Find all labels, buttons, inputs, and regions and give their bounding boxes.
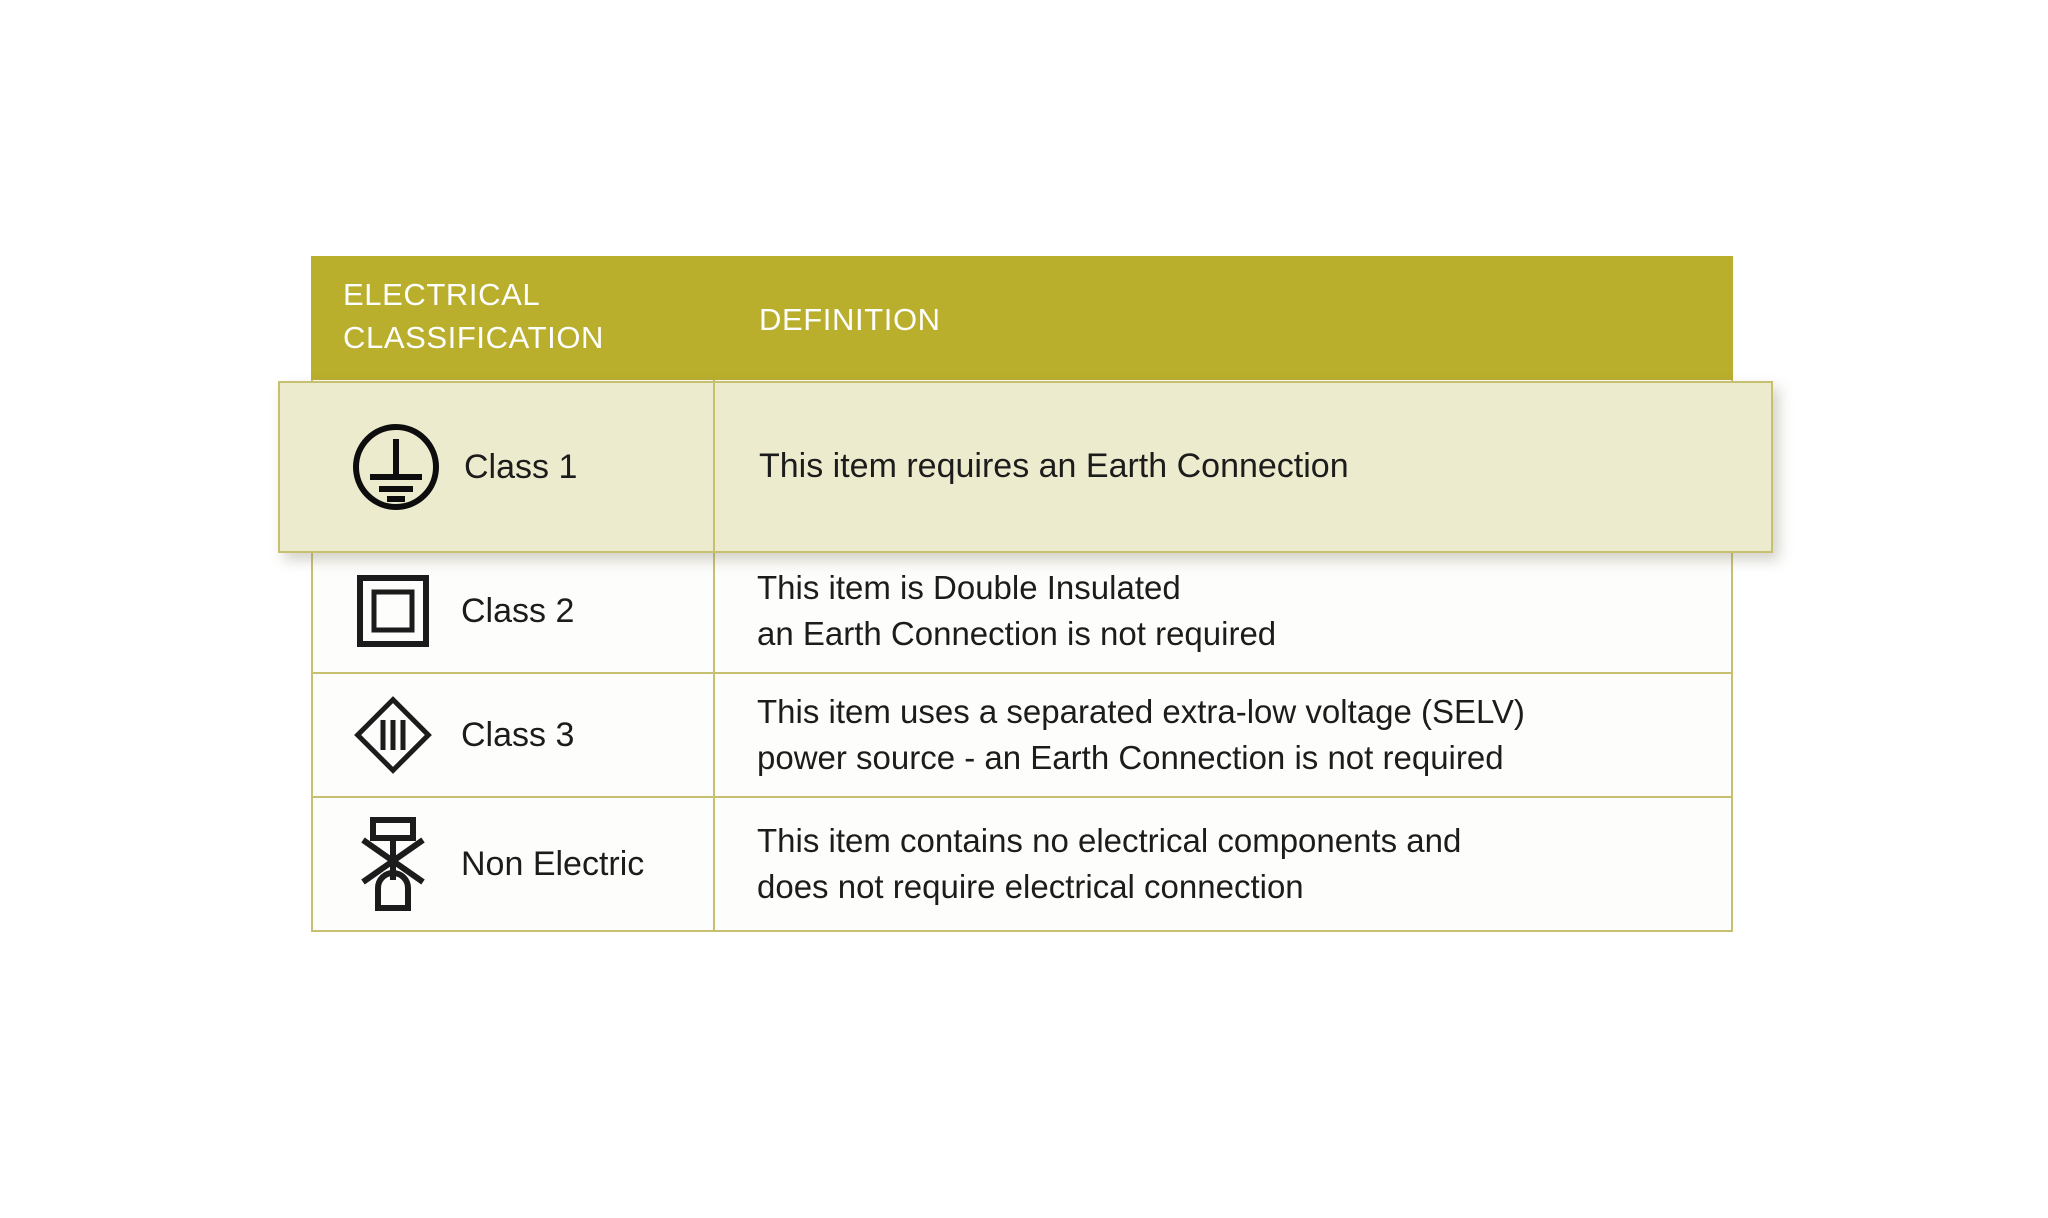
class-cell-non-electric: Non Electric (313, 798, 715, 930)
class-label: Non Electric (461, 845, 644, 884)
column-header-line-2: CLASSIFICATION (343, 317, 715, 360)
definition-line-2: does not require electrical connection (757, 864, 1461, 910)
table-header-row: ELECTRICAL CLASSIFICATION DEFINITION (311, 256, 1733, 380)
column-header-definition: DEFINITION (715, 256, 1733, 380)
class-label: Class 3 (461, 716, 574, 755)
diamond-selv-icon (347, 689, 439, 781)
column-header-line-1: ELECTRICAL (343, 277, 540, 312)
table-row[interactable]: Class 2 This item is Double Insulated an… (313, 548, 1731, 672)
table-row[interactable]: Class 3 This item uses a separated extra… (313, 672, 1731, 796)
definition-text: This item requires an Earth Connection (759, 443, 1349, 491)
table-row-highlighted-class-1[interactable]: Class 1 This item requires an Earth Conn… (278, 381, 1773, 553)
definition-line-1: This item is Double Insulated (757, 569, 1181, 606)
class-cell-class-3: Class 3 (313, 674, 715, 796)
class-cell-class-2: Class 2 (313, 550, 715, 672)
definition-cell-non-electric: This item contains no electrical compone… (715, 798, 1731, 930)
definition-cell-class-2: This item is Double Insulated an Earth C… (715, 550, 1731, 672)
definition-line-2: power source - an Earth Connection is no… (757, 735, 1525, 781)
definition-text: This item contains no electrical compone… (757, 818, 1461, 910)
definition-cell-class-3: This item uses a separated extra-low vol… (715, 674, 1731, 796)
definition-cell-class-1: This item requires an Earth Connection (715, 443, 1771, 491)
class-label: Class 2 (461, 592, 574, 631)
definition-line-1: This item uses a separated extra-low vol… (757, 693, 1525, 730)
class-label: Class 1 (464, 448, 577, 487)
definition-line-1: This item requires an Earth Connection (759, 447, 1349, 485)
column-header-definition-label: DEFINITION (759, 302, 941, 337)
double-square-insulation-icon (347, 565, 439, 657)
protective-earth-icon (346, 417, 446, 517)
crossed-out-plug-icon (347, 818, 439, 910)
electrical-classification-table: ELECTRICAL CLASSIFICATION DEFINITION (311, 256, 1733, 932)
column-header-electrical-classification: ELECTRICAL CLASSIFICATION (311, 256, 715, 380)
definition-text: This item is Double Insulated an Earth C… (757, 565, 1276, 657)
definition-line-2: an Earth Connection is not required (757, 611, 1276, 657)
class-cell-class-1: Class 1 (280, 383, 715, 551)
definition-text: This item uses a separated extra-low vol… (757, 689, 1525, 781)
page-canvas: ELECTRICAL CLASSIFICATION DEFINITION (0, 0, 2048, 1218)
table-row[interactable]: Non Electric This item contains no elect… (313, 796, 1731, 930)
definition-line-1: This item contains no electrical compone… (757, 822, 1461, 859)
